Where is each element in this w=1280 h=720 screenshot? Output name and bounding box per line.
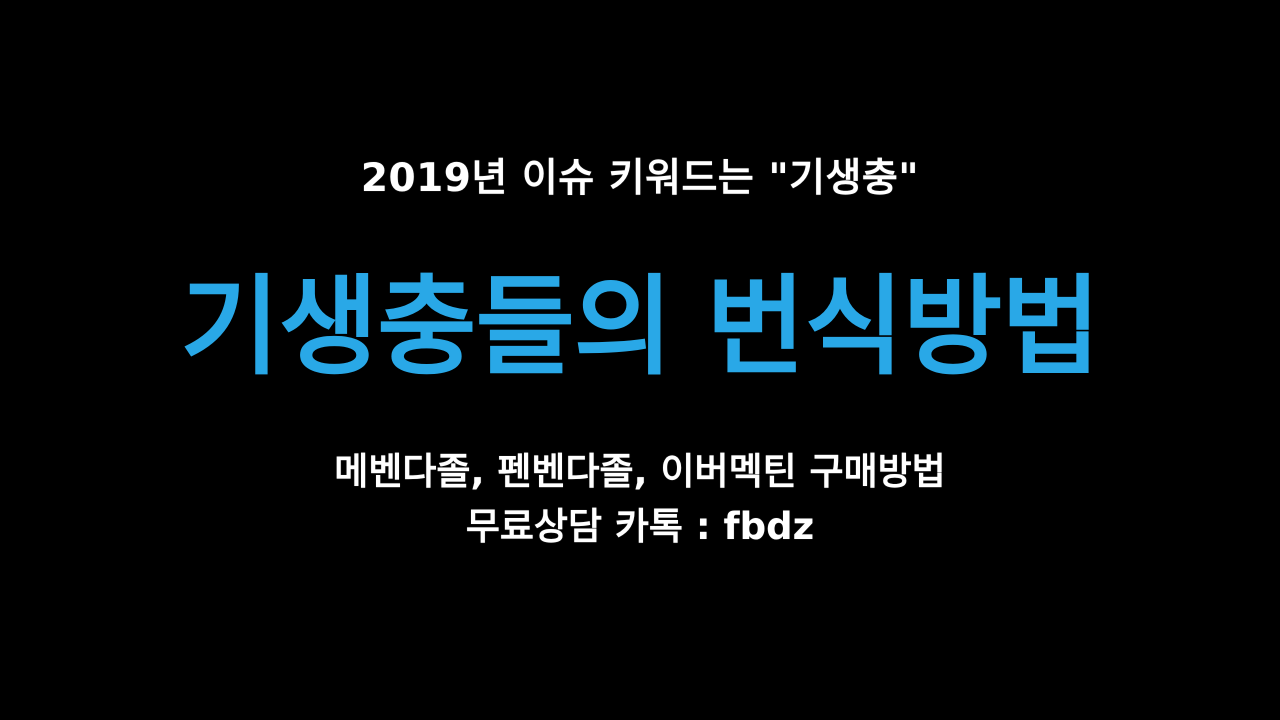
- video-title-card: 2019년 이슈 키워드는 "기생충" 기생충들의번식방법 메벤다졸, 펜벤다졸…: [0, 0, 1280, 720]
- headline-word-secondary: 번식방법: [706, 265, 1099, 390]
- main-headline: 기생충들의번식방법: [0, 268, 1280, 389]
- subtitle-block: 메벤다졸, 펜벤다졸, 이버멕틴 구매방법 무료상담 카톡 : fbdz: [0, 444, 1280, 554]
- headline-word-primary: 기생충들의: [180, 265, 672, 390]
- subtitle-line-contact: 무료상담 카톡 : fbdz: [0, 499, 1280, 554]
- eyebrow-text: 2019년 이슈 키워드는 "기생충": [0, 158, 1280, 201]
- subtitle-line-products: 메벤다졸, 펜벤다졸, 이버멕틴 구매방법: [0, 444, 1280, 499]
